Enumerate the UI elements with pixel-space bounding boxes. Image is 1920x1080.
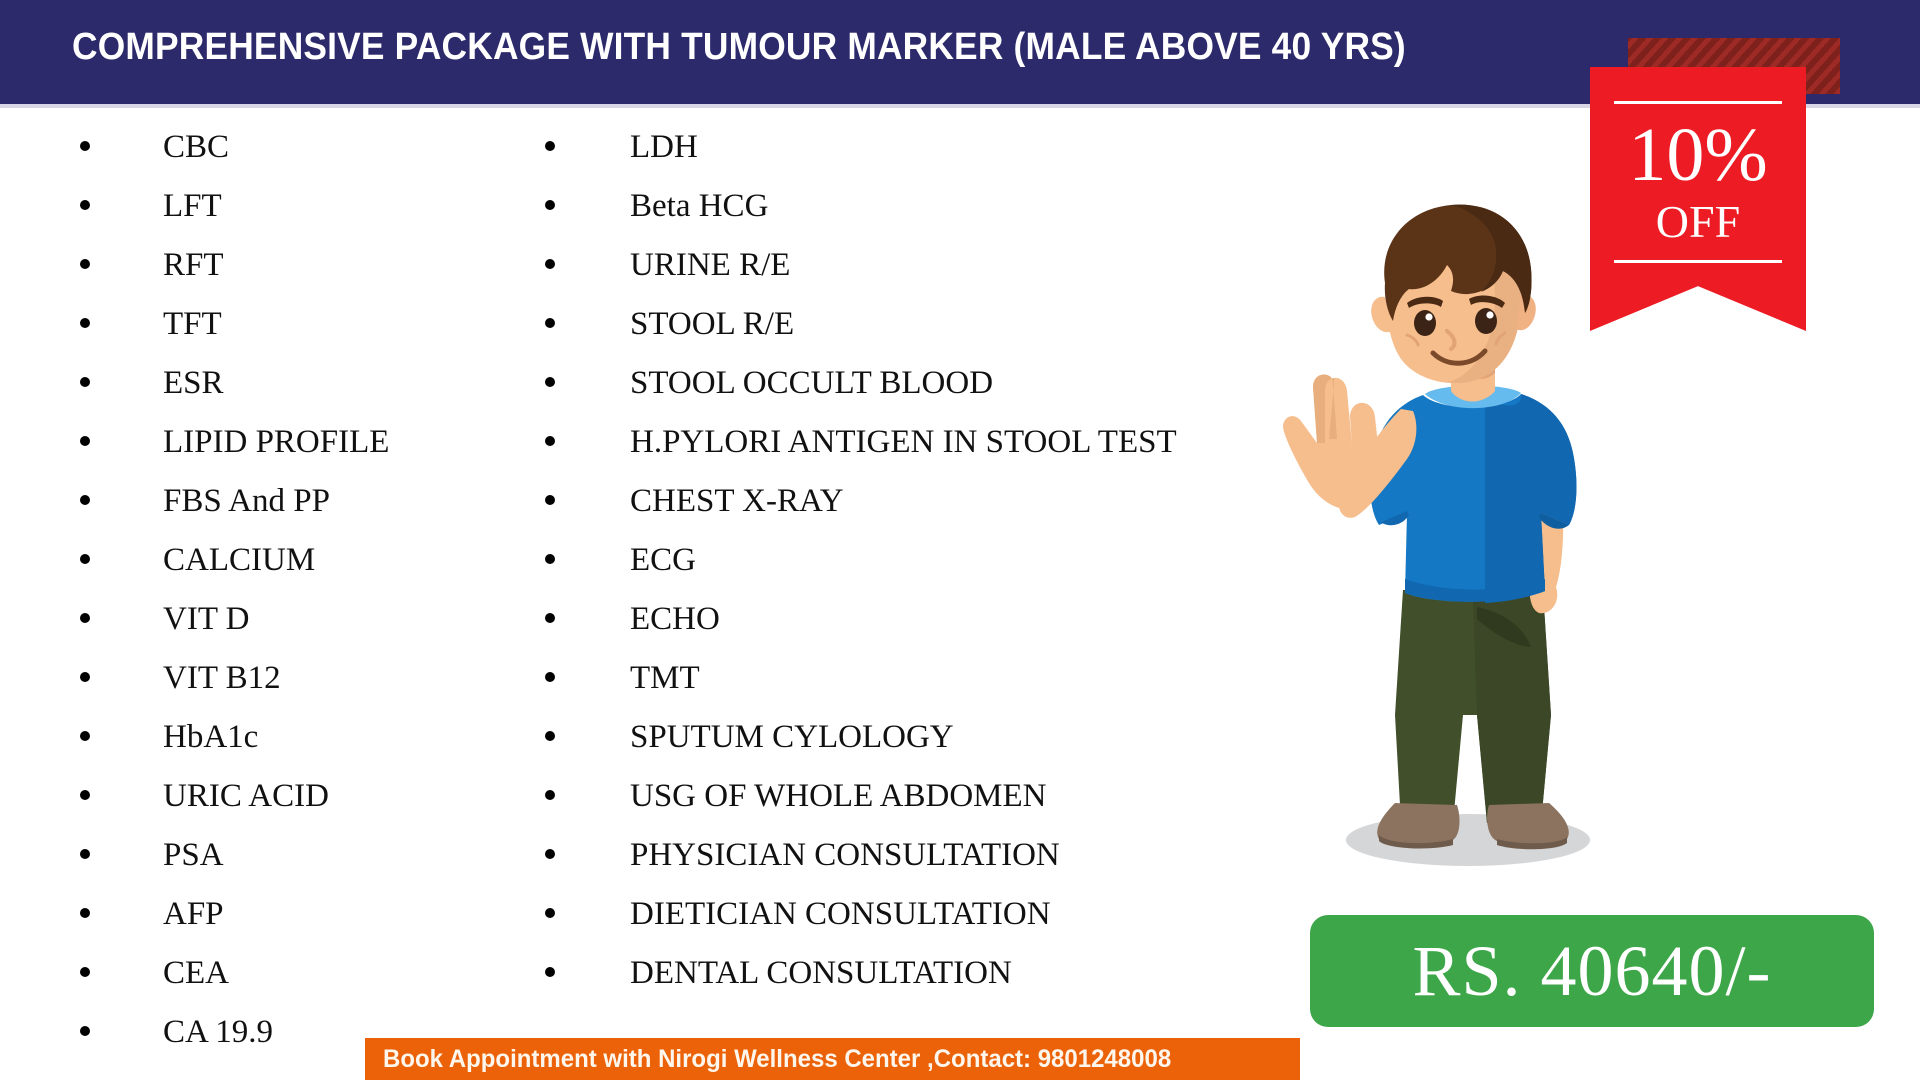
ribbon-rule-top	[1614, 101, 1782, 104]
test-name: CEA	[163, 944, 229, 1003]
bullet-icon	[545, 141, 555, 151]
test-name: TMT	[630, 649, 700, 708]
test-name: USG OF WHOLE ABDOMEN	[630, 767, 1047, 826]
list-item: ESR	[80, 354, 500, 413]
list-item: TMT	[545, 649, 1265, 708]
bullet-icon	[545, 790, 555, 800]
bullet-icon	[80, 613, 90, 623]
tests-right-column: LDHBeta HCGURINE R/ESTOOL R/ESTOOL OCCUL…	[545, 118, 1265, 1003]
test-name: STOOL R/E	[630, 295, 794, 354]
test-name: CBC	[163, 118, 229, 177]
bullet-icon	[80, 554, 90, 564]
bullet-icon	[545, 613, 555, 623]
list-item: STOOL R/E	[545, 295, 1265, 354]
bullet-icon	[80, 790, 90, 800]
list-item: URINE R/E	[545, 236, 1265, 295]
bullet-icon	[545, 318, 555, 328]
test-name: H.PYLORI ANTIGEN IN STOOL TEST	[630, 413, 1177, 472]
list-item: AFP	[80, 885, 500, 944]
test-name: VIT D	[163, 590, 249, 649]
list-item: USG OF WHOLE ABDOMEN	[545, 767, 1265, 826]
price-badge[interactable]: RS. 40640/-	[1310, 915, 1874, 1027]
left-eye	[1414, 310, 1436, 336]
bullet-icon	[80, 1026, 90, 1036]
test-name: Beta HCG	[630, 177, 768, 236]
bullet-icon	[80, 967, 90, 977]
bullet-icon	[545, 200, 555, 210]
bullet-icon	[545, 259, 555, 269]
bullet-icon	[545, 731, 555, 741]
bullet-icon	[80, 141, 90, 151]
list-item: VIT D	[80, 590, 500, 649]
test-name: FBS And PP	[163, 472, 330, 531]
list-item: TFT	[80, 295, 500, 354]
contact-banner[interactable]: Book Appointment with Nirogi Wellness Ce…	[365, 1038, 1300, 1080]
list-item: VIT B12	[80, 649, 500, 708]
bullet-icon	[80, 849, 90, 859]
list-item: CBC	[80, 118, 500, 177]
list-item: Beta HCG	[545, 177, 1265, 236]
list-item: CHEST X-RAY	[545, 472, 1265, 531]
test-name: DENTAL CONSULTATION	[630, 944, 1012, 1003]
test-name: STOOL OCCULT BLOOD	[630, 354, 993, 413]
left-shoe	[1377, 803, 1459, 845]
bullet-icon	[80, 908, 90, 918]
waving-boy-illustration	[1255, 195, 1655, 895]
test-name: CA 19.9	[163, 1003, 273, 1062]
test-name: LDH	[630, 118, 698, 177]
test-name: PHYSICIAN CONSULTATION	[630, 826, 1060, 885]
bullet-icon	[545, 967, 555, 977]
bullet-icon	[545, 908, 555, 918]
test-name: URIC ACID	[163, 767, 329, 826]
test-name: CALCIUM	[163, 531, 315, 590]
bullet-icon	[80, 318, 90, 328]
list-item: ECHO	[545, 590, 1265, 649]
test-name: ESR	[163, 354, 224, 413]
list-item: DIETICIAN CONSULTATION	[545, 885, 1265, 944]
list-item: RFT	[80, 236, 500, 295]
list-item: DENTAL CONSULTATION	[545, 944, 1265, 1003]
test-name: PSA	[163, 826, 224, 885]
list-item: ECG	[545, 531, 1265, 590]
test-name: VIT B12	[163, 649, 281, 708]
list-item: CALCIUM	[80, 531, 500, 590]
list-item: STOOL OCCULT BLOOD	[545, 354, 1265, 413]
list-item: LDH	[545, 118, 1265, 177]
bullet-icon	[80, 259, 90, 269]
test-name: CHEST X-RAY	[630, 472, 844, 531]
bullet-icon	[80, 495, 90, 505]
list-item: PSA	[80, 826, 500, 885]
test-name: AFP	[163, 885, 224, 944]
bullet-icon	[80, 731, 90, 741]
test-name: SPUTUM CYLOLOGY	[630, 708, 954, 767]
list-item: LIPID PROFILE	[80, 413, 500, 472]
bullet-icon	[545, 849, 555, 859]
list-item: CEA	[80, 944, 500, 1003]
test-name: RFT	[163, 236, 224, 295]
test-name: ECHO	[630, 590, 720, 649]
bullet-icon	[545, 436, 555, 446]
right-shoe	[1487, 803, 1569, 845]
list-item: LFT	[80, 177, 500, 236]
test-name: LFT	[163, 177, 222, 236]
bullet-icon	[80, 672, 90, 682]
bullet-icon	[545, 495, 555, 505]
test-name: URINE R/E	[630, 236, 790, 295]
list-item: FBS And PP	[80, 472, 500, 531]
tests-left-column: CBCLFTRFTTFTESRLIPID PROFILEFBS And PPCA…	[80, 118, 500, 1062]
bullet-icon	[80, 200, 90, 210]
list-item: SPUTUM CYLOLOGY	[545, 708, 1265, 767]
bullet-icon	[545, 672, 555, 682]
list-item: PHYSICIAN CONSULTATION	[545, 826, 1265, 885]
test-name: TFT	[163, 295, 222, 354]
discount-percent: 10%	[1590, 112, 1806, 198]
tshirt-shading	[1485, 394, 1576, 603]
right-eye	[1475, 308, 1497, 334]
right-eye-highlight	[1486, 311, 1493, 318]
page-title: COMPREHENSIVE PACKAGE WITH TUMOUR MARKER…	[72, 26, 1406, 69]
price-amount: RS. 40640/-	[1412, 935, 1771, 1007]
test-name: HbA1c	[163, 708, 258, 767]
list-item: URIC ACID	[80, 767, 500, 826]
waving-hand	[1283, 375, 1381, 510]
list-item: HbA1c	[80, 708, 500, 767]
list-item: H.PYLORI ANTIGEN IN STOOL TEST	[545, 413, 1265, 472]
test-name: ECG	[630, 531, 696, 590]
bullet-icon	[80, 377, 90, 387]
bullet-icon	[545, 377, 555, 387]
bullet-icon	[80, 436, 90, 446]
test-name: DIETICIAN CONSULTATION	[630, 885, 1051, 944]
left-eye-highlight	[1425, 313, 1432, 320]
contact-text: Book Appointment with Nirogi Wellness Ce…	[383, 1045, 1171, 1074]
test-name: LIPID PROFILE	[163, 413, 389, 472]
bullet-icon	[545, 554, 555, 564]
